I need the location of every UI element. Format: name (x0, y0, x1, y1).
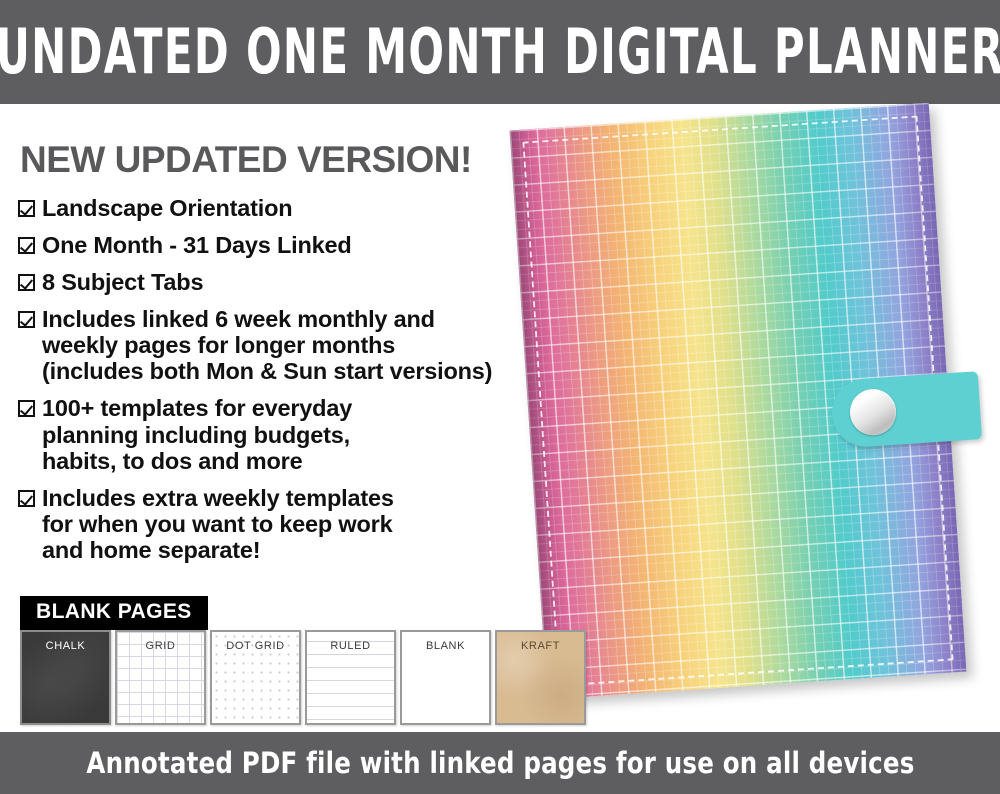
swatch-label: KRAFT (497, 640, 584, 652)
feature-panel: NEW UPDATED VERSION! Landscape Orientati… (0, 104, 540, 732)
checkbox-checked-icon (18, 400, 35, 417)
feature-label: 8 Subject Tabs (42, 269, 203, 295)
swatch-label: GRID (117, 640, 204, 652)
checkbox-checked-icon (18, 200, 35, 217)
swatch-label: BLANK (402, 640, 489, 652)
feature-label: Includes linked 6 week monthly and weekl… (42, 306, 492, 384)
list-item: Includes linked 6 week monthly and weekl… (18, 306, 540, 384)
paper-swatch-blank: BLANK (400, 630, 491, 725)
blank-pages-badge: BLANK PAGES (20, 596, 208, 630)
swatch-label: DOT GRID (212, 640, 299, 652)
list-item: Landscape Orientation (18, 195, 540, 221)
paper-swatch-ruled: RULED (305, 630, 396, 725)
footer-caption: Annotated PDF file with linked pages for… (86, 746, 914, 780)
snap-button-icon (849, 388, 898, 437)
feature-list: Landscape Orientation One Month - 31 Day… (18, 195, 540, 563)
list-item: 100+ templates for everyday planning inc… (18, 395, 540, 473)
checkbox-checked-icon (18, 490, 35, 507)
swatch-label: RULED (307, 640, 394, 652)
header-banner: UNDATED ONE MONTH DIGITAL PLANNER (0, 0, 1000, 104)
feature-label: Includes extra weekly templates for when… (42, 485, 394, 563)
paper-swatch-grid: GRID (115, 630, 206, 725)
paper-swatch-dot-grid: DOT GRID (210, 630, 301, 725)
checkbox-checked-icon (18, 311, 35, 328)
feature-label: One Month - 31 Days Linked (42, 232, 352, 258)
checkbox-checked-icon (18, 274, 35, 291)
swatch-label: CHALK (22, 640, 109, 652)
paper-swatch-chalk: CHALK (20, 630, 111, 725)
list-item: One Month - 31 Days Linked (18, 232, 540, 258)
paper-swatch-row: CHALK GRID DOT GRID RULED BLANK KRAFT (20, 630, 586, 725)
planner-clasp-strap (830, 371, 982, 449)
subheading: NEW UPDATED VERSION! (20, 139, 540, 181)
footer-banner: Annotated PDF file with linked pages for… (0, 732, 1000, 794)
page-title: UNDATED ONE MONTH DIGITAL PLANNER (0, 16, 1000, 88)
paper-swatch-kraft: KRAFT (495, 630, 586, 725)
list-item: Includes extra weekly templates for when… (18, 485, 540, 563)
feature-label: 100+ templates for everyday planning inc… (42, 395, 352, 473)
feature-label: Landscape Orientation (42, 195, 292, 221)
list-item: 8 Subject Tabs (18, 269, 540, 295)
checkbox-checked-icon (18, 237, 35, 254)
